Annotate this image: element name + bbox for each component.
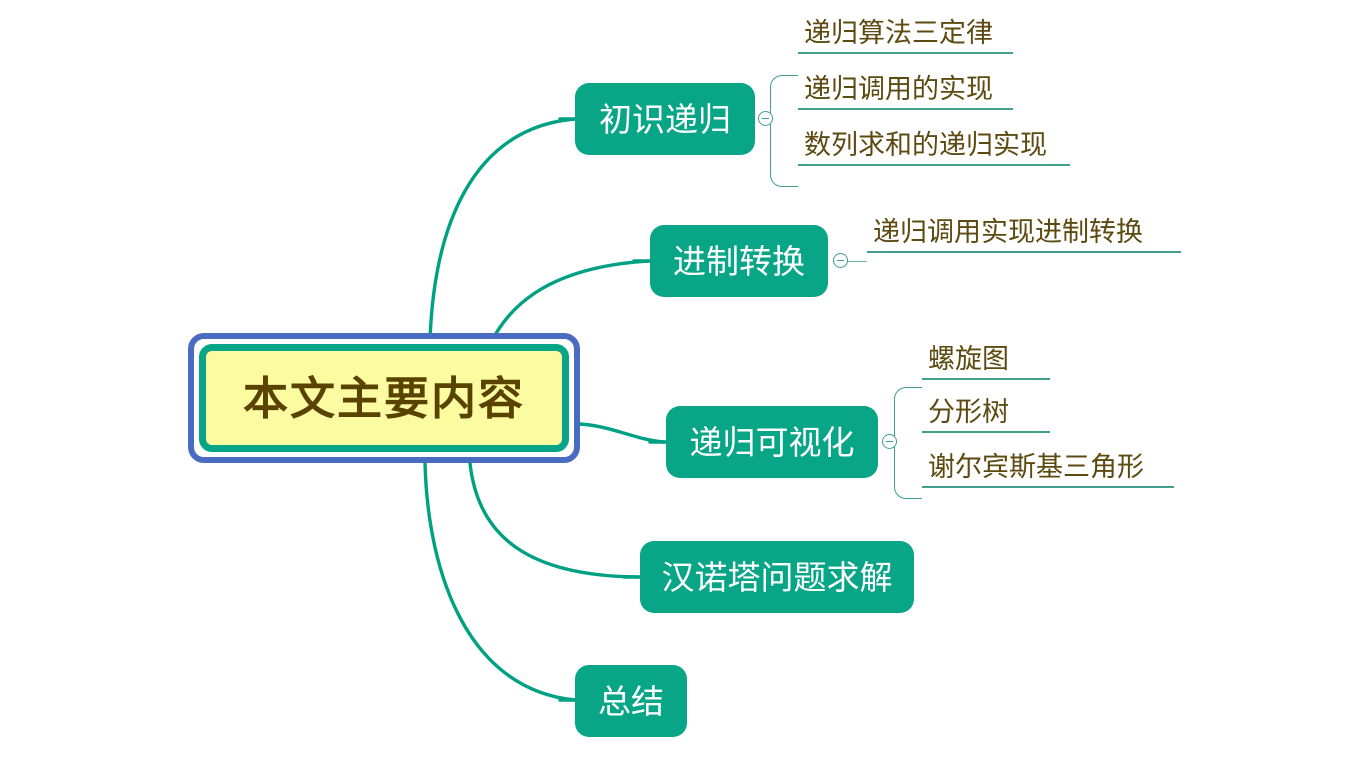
branch-node-1-label: 初识递归 <box>599 103 731 136</box>
branch-1-child-1[interactable]: 递归算法三定律 <box>798 20 1013 54</box>
branch-node-3[interactable]: 递归可视化 <box>666 406 878 478</box>
branch-1-child-2-label: 递归调用的实现 <box>798 76 1013 108</box>
branch-node-5-label: 总结 <box>598 685 664 718</box>
branch-1-child-2[interactable]: 递归调用的实现 <box>798 76 1013 110</box>
branch-1-collapse-toggle[interactable] <box>758 111 773 126</box>
edge-to-branch-3 <box>580 424 664 442</box>
branch-3-child-3-underline <box>922 486 1174 488</box>
branch-2-collapse-toggle[interactable] <box>833 253 848 268</box>
branch-2-leader <box>845 261 867 263</box>
branch-1-child-3[interactable]: 数列求和的递归实现 <box>798 132 1070 166</box>
branch-1-child-1-label: 递归算法三定律 <box>798 20 1013 52</box>
root-node[interactable]: 本文主要内容 <box>188 333 580 463</box>
edge-to-branch-5 <box>425 463 575 700</box>
branch-1-child-2-underline <box>798 108 1013 110</box>
branch-3-child-1[interactable]: 螺旋图 <box>922 346 1050 380</box>
branch-2-child-1[interactable]: 递归调用实现进制转换 <box>867 219 1181 253</box>
branch-2-children: 递归调用实现进制转换 <box>845 205 1185 285</box>
branch-3-child-1-label: 螺旋图 <box>922 346 1050 378</box>
branch-node-1[interactable]: 初识递归 <box>575 83 755 155</box>
branch-1-bracket <box>770 75 798 187</box>
branch-1-child-3-underline <box>798 164 1070 166</box>
branch-3-children: 螺旋图 分形树 谢尔宾斯基三角形 <box>894 352 1174 512</box>
branch-3-child-1-underline <box>922 378 1050 380</box>
branch-node-3-label: 递归可视化 <box>690 426 855 459</box>
branch-3-collapse-toggle[interactable] <box>882 434 897 449</box>
root-node-inner: 本文主要内容 <box>199 344 569 452</box>
branch-node-2[interactable]: 进制转换 <box>650 225 828 297</box>
edge-to-branch-2 <box>492 261 648 340</box>
branch-node-4[interactable]: 汉诺塔问题求解 <box>640 541 914 613</box>
branch-1-child-1-underline <box>798 52 1013 54</box>
root-node-label: 本文主要内容 <box>243 376 525 421</box>
branch-2-child-1-underline <box>867 251 1181 253</box>
branch-3-child-3-label: 谢尔宾斯基三角形 <box>922 454 1174 486</box>
edge-to-branch-4 <box>470 463 638 577</box>
edge-to-branch-1 <box>430 119 575 340</box>
branch-1-child-3-label: 数列求和的递归实现 <box>798 132 1070 164</box>
mindmap-canvas: 本文主要内容 初识递归 递归算法三定律 递归调用的实现 数列求和的递归实现 进制… <box>0 0 1356 776</box>
branch-3-child-2[interactable]: 分形树 <box>922 399 1050 433</box>
branch-1-children: 递归算法三定律 递归调用的实现 数列求和的递归实现 <box>770 20 1070 180</box>
branch-node-2-label: 进制转换 <box>673 245 805 278</box>
branch-node-4-label: 汉诺塔问题求解 <box>662 561 893 594</box>
branch-2-child-1-label: 递归调用实现进制转换 <box>867 219 1181 251</box>
branch-node-5[interactable]: 总结 <box>575 665 687 737</box>
branch-3-child-2-label: 分形树 <box>922 399 1050 431</box>
branch-3-bracket <box>894 387 922 499</box>
branch-3-child-3[interactable]: 谢尔宾斯基三角形 <box>922 454 1174 488</box>
branch-3-child-2-underline <box>922 431 1050 433</box>
